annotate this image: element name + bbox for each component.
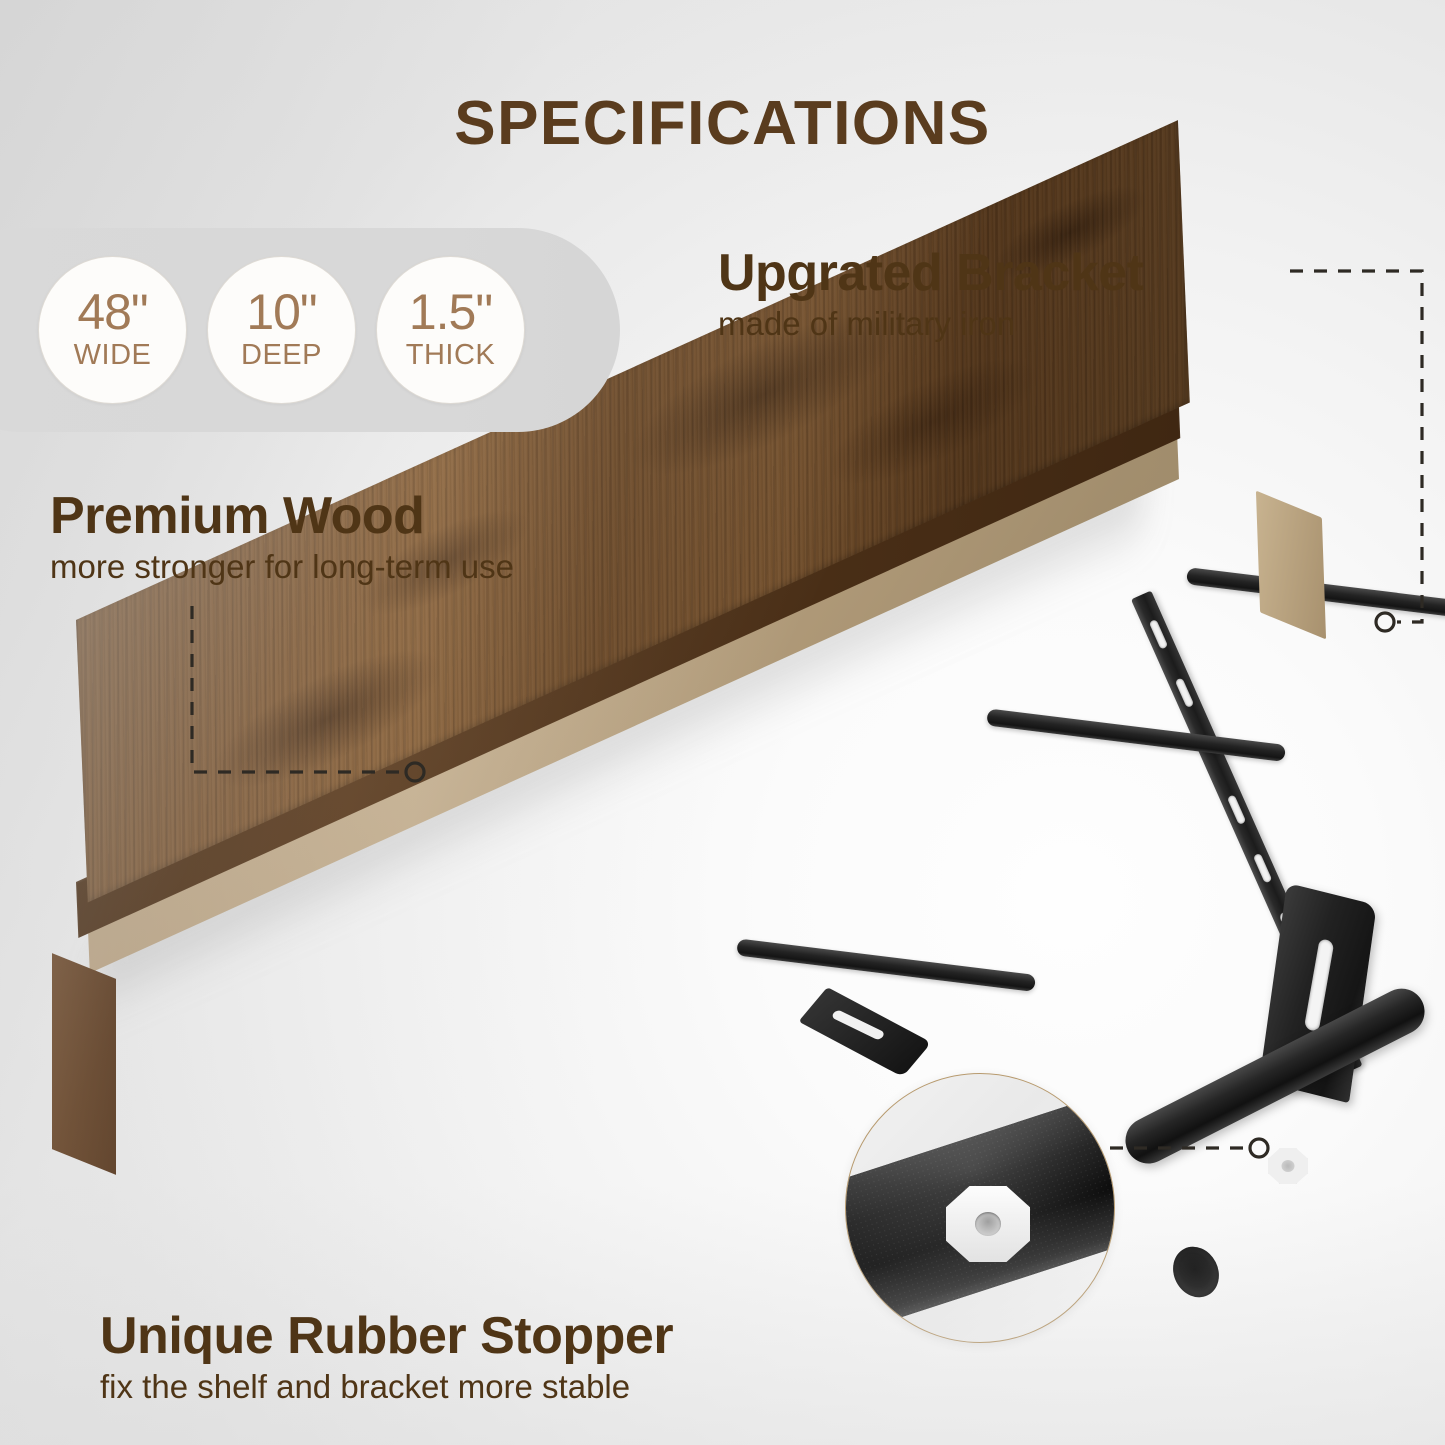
bracket-plate-slot xyxy=(1304,938,1334,1032)
spec-value-depth: 10" xyxy=(246,288,316,336)
callout-heading-wood: Premium Wood xyxy=(50,486,514,546)
product-spec-image: SPECIFICATIONS 48" WIDE 10" DEEP 1.5" TH… xyxy=(0,0,1445,1445)
spec-value-thickness: 1.5" xyxy=(409,288,492,336)
spec-label-depth: DEEP xyxy=(241,339,322,372)
callout-premium-wood: Premium Wood more stronger for long-term… xyxy=(50,486,514,586)
callout-heading-bracket: Upgrated Bracket xyxy=(718,243,1143,303)
callout-subheading-rubber: fix the shelf and bracket more stable xyxy=(100,1368,673,1406)
callout-subheading-bracket: made of military iron xyxy=(718,305,1143,343)
rubber-stopper-zoom-circle xyxy=(845,1073,1115,1343)
bracket-tip-slot xyxy=(831,1009,886,1041)
bracket-support-arm-front xyxy=(736,939,1036,992)
callout-subheading-wood: more stronger for long-term use xyxy=(50,548,514,586)
zoom-rubber-stopper xyxy=(946,1186,1030,1262)
bracket-rail-slot xyxy=(1149,619,1169,650)
bracket-tip-plate xyxy=(798,987,931,1077)
callout-unique-rubber-stopper: Unique Rubber Stopper fix the shelf and … xyxy=(100,1306,673,1406)
callout-upgrated-bracket: Upgrated Bracket made of military iron xyxy=(718,243,1143,343)
spec-badge-width: 48" WIDE xyxy=(38,256,187,404)
spec-value-width: 48" xyxy=(77,288,147,336)
bracket-tube-open-end xyxy=(1165,1239,1228,1305)
bracket-rail-slot xyxy=(1253,853,1273,884)
spec-label-thickness: THICK xyxy=(406,339,496,372)
bracket-support-arm-middle xyxy=(986,709,1286,762)
shelf-left-end-cap xyxy=(52,953,116,1175)
spec-badge-depth: 10" DEEP xyxy=(207,256,356,404)
rubber-stopper xyxy=(1268,1148,1308,1184)
shelf-right-core-edge xyxy=(1256,491,1326,640)
page-title: SPECIFICATIONS xyxy=(0,88,1445,159)
spec-label-width: WIDE xyxy=(74,339,152,372)
spec-badge-group: 48" WIDE 10" DEEP 1.5" THICK xyxy=(38,256,525,404)
callout-heading-rubber: Unique Rubber Stopper xyxy=(100,1306,673,1366)
product-photo xyxy=(0,0,1445,1445)
bracket-rail-slot xyxy=(1227,794,1247,825)
bracket-rail-slot xyxy=(1175,677,1195,708)
spec-badge-thickness: 1.5" THICK xyxy=(376,256,525,404)
